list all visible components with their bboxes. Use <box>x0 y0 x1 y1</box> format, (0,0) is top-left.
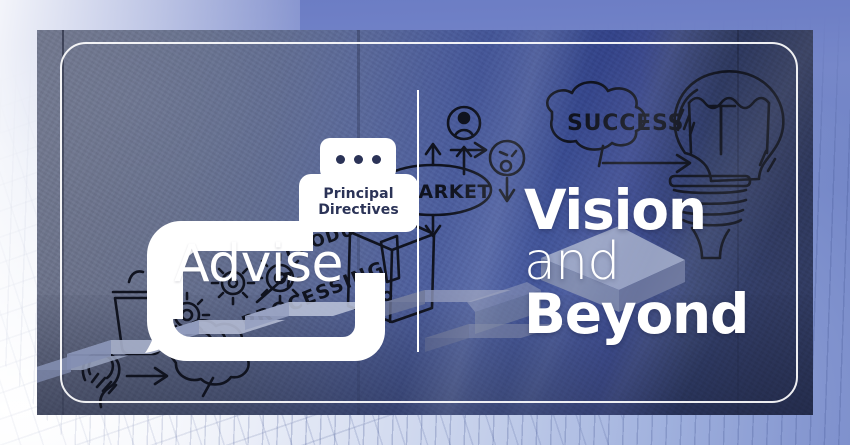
hero-panel: PROCESSING <box>37 30 813 415</box>
arrow-doodle-7 <box>500 178 514 201</box>
headline-block: Vision and Beyond <box>524 185 813 340</box>
directives-bubble: Principal Directives <box>299 174 418 232</box>
arrow-doodle-2 <box>127 368 167 384</box>
svg-text:SUCCESS: SUCCESS <box>567 111 684 136</box>
bubble-dot-1 <box>336 155 345 164</box>
headline-line-1: Vision <box>524 185 813 236</box>
bubble-dot-3 <box>372 155 381 164</box>
face-doodle <box>490 141 524 175</box>
advise-wordmark: Advise <box>174 238 343 290</box>
headline-line-3: Beyond <box>524 289 813 340</box>
bubble-dot-2 <box>354 155 363 164</box>
principal-directives-badge[interactable]: Principal Directives <box>299 138 427 238</box>
directives-line-2: Directives <box>318 203 399 219</box>
person-doodle <box>448 107 480 174</box>
banner-root: PROCESSING <box>0 0 850 445</box>
directives-line-1: Principal <box>323 187 393 203</box>
arrow-doodle-8 <box>603 155 690 172</box>
question-mark-doodle <box>83 353 119 415</box>
doodle-label-success: SUCCESS <box>547 82 684 149</box>
headline-line-2: and <box>524 238 813 286</box>
